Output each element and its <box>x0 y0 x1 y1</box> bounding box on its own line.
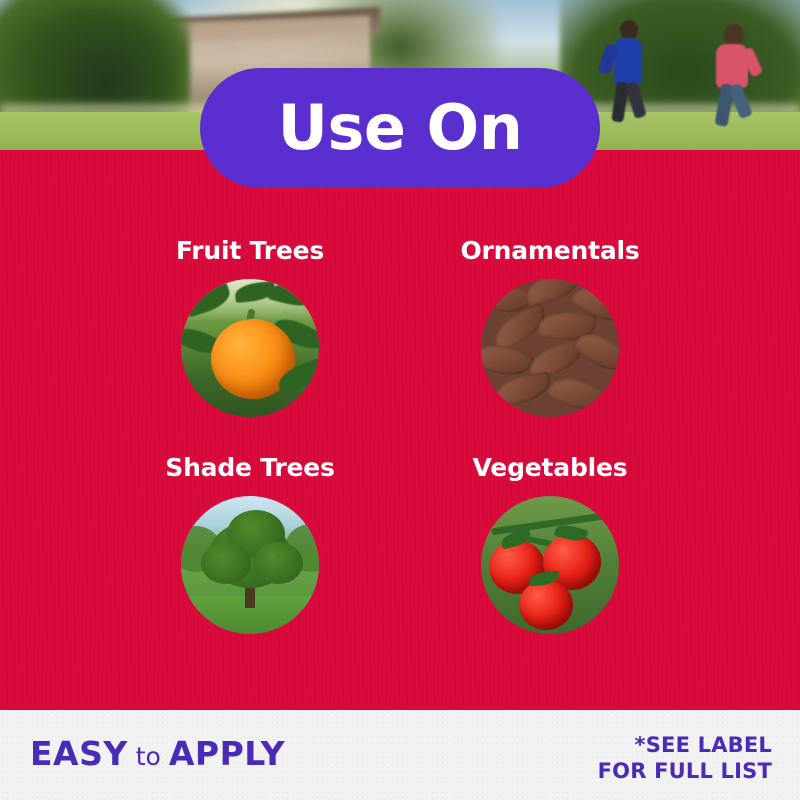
child-leg-right <box>728 83 753 119</box>
running-child-left <box>600 20 660 130</box>
shade-tree-photo <box>181 496 319 634</box>
running-child-right <box>700 24 770 132</box>
page-title: Use On <box>278 97 523 159</box>
footer-bar: EASY to APPLY *SEE LABEL FOR FULL LIST <box>0 710 800 800</box>
tomato-plant-photo <box>481 496 619 634</box>
to-word: to <box>136 742 161 771</box>
apply-word: APPLY <box>169 734 285 773</box>
promo-graphic: Use On Fruit Trees Ornamenta <box>0 0 800 800</box>
use-on-header-pill: Use On <box>200 68 600 188</box>
ornamental-leaves-photo <box>481 279 619 417</box>
item-shade-trees[interactable]: Shade Trees <box>135 453 365 634</box>
item-label: Vegetables <box>473 453 628 482</box>
see-label-note: *SEE LABEL FOR FULL LIST <box>598 732 772 785</box>
orange-fruit-tree-photo <box>181 279 319 417</box>
tomato <box>519 580 573 630</box>
tree-canopy-left <box>201 542 251 584</box>
use-on-items-grid: Fruit Trees Ornamentals <box>0 236 800 634</box>
item-ornamentals[interactable]: Ornamentals <box>435 236 665 417</box>
easy-to-apply-text: EASY to APPLY <box>30 734 285 773</box>
child-head <box>620 20 638 40</box>
vine-stalk <box>491 512 611 536</box>
ornamental-leaf <box>545 368 608 417</box>
item-vegetables[interactable]: Vegetables <box>435 453 665 634</box>
items-row-2: Shade Trees Vegetables <box>0 453 800 634</box>
ornamental-leaf <box>493 371 552 407</box>
easy-word: EASY <box>30 734 128 773</box>
note-line-1: *SEE LABEL <box>598 732 772 758</box>
item-label: Shade Trees <box>165 453 334 482</box>
item-label: Ornamentals <box>460 236 639 265</box>
child-torso <box>614 38 642 86</box>
child-leg-right <box>625 81 646 119</box>
note-line-2: FOR FULL LIST <box>598 758 772 784</box>
child-head <box>724 24 744 46</box>
item-label: Fruit Trees <box>176 236 324 265</box>
tree-canopy-right <box>253 542 303 584</box>
items-row-1: Fruit Trees Ornamentals <box>0 236 800 417</box>
item-fruit-trees[interactable]: Fruit Trees <box>135 236 365 417</box>
